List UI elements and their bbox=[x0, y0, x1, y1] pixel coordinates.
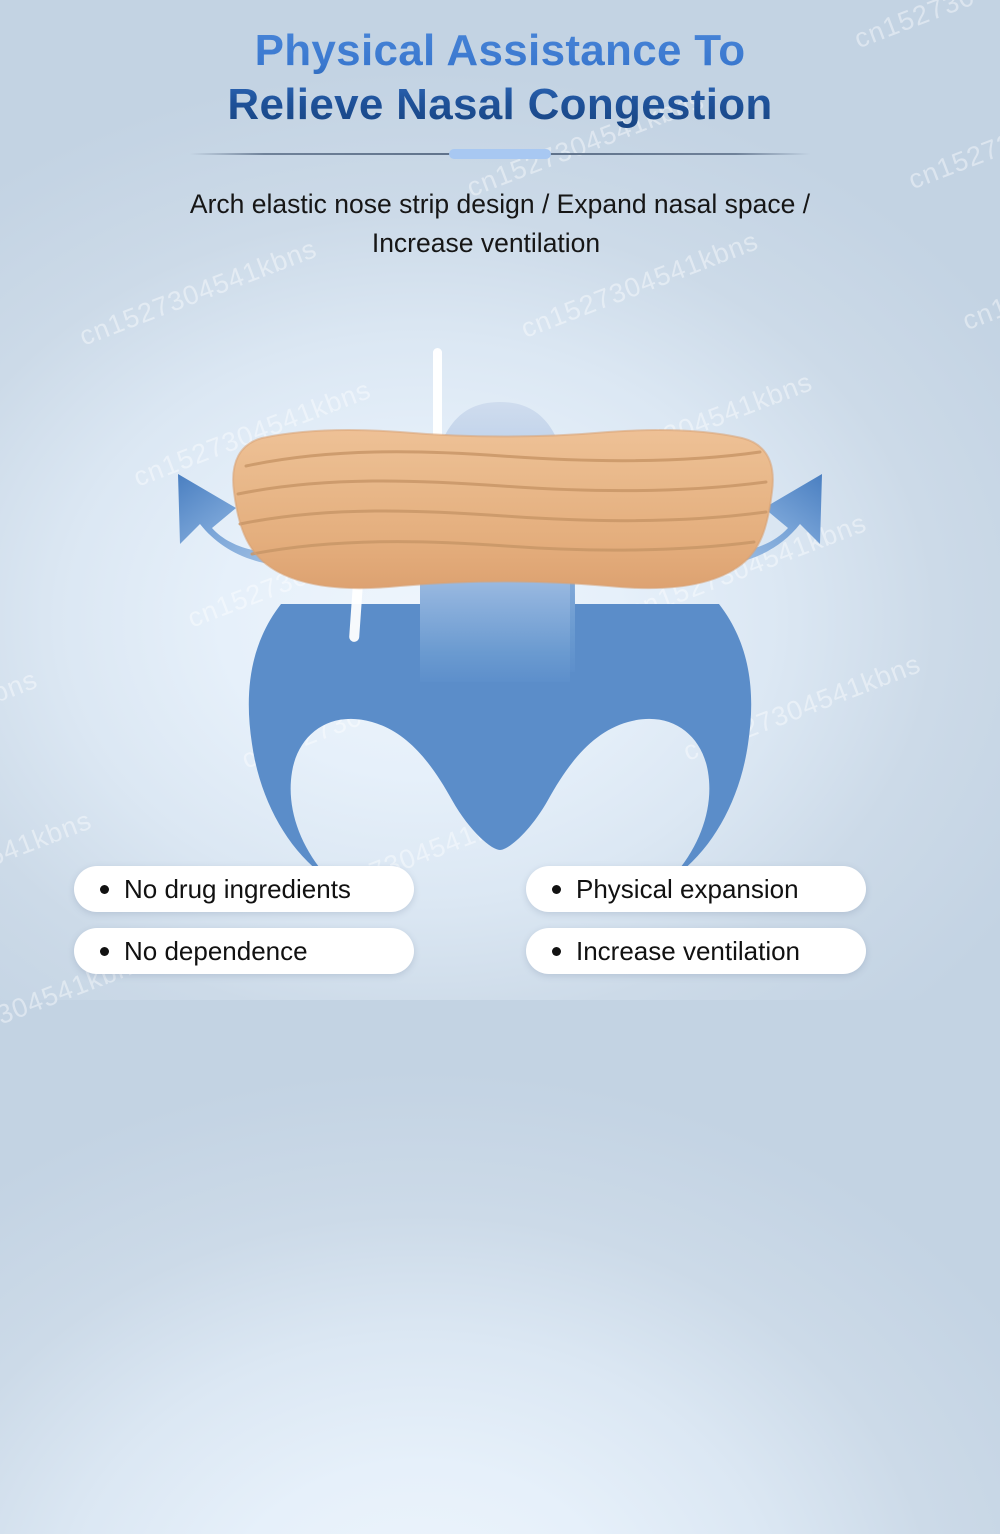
feature-pill-no-drug-ingredients[interactable]: No drug ingredients bbox=[74, 866, 414, 912]
feature-label: No drug ingredients bbox=[124, 876, 351, 902]
feature-pill-no-dependence[interactable]: No dependence bbox=[74, 928, 414, 974]
subtitle: Arch elastic nose strip design / Expand … bbox=[105, 185, 895, 262]
header: Physical Assistance To Relieve Nasal Con… bbox=[0, 0, 1000, 262]
divider bbox=[190, 145, 810, 163]
feature-pill-physical-expansion[interactable]: Physical expansion bbox=[526, 866, 866, 912]
subtitle-line-1: Arch elastic nose strip design / Expand … bbox=[105, 185, 895, 223]
feature-column-right: Physical expansion Increase ventilation bbox=[526, 866, 926, 974]
feature-column-left: No drug ingredients No dependence bbox=[74, 866, 504, 974]
bullet-icon bbox=[552, 947, 561, 956]
divider-accent-bar bbox=[449, 149, 551, 159]
feature-label: Increase ventilation bbox=[576, 938, 800, 964]
feature-label: No dependence bbox=[124, 938, 308, 964]
feature-pill-increase-ventilation[interactable]: Increase ventilation bbox=[526, 928, 866, 974]
product-illustration bbox=[0, 252, 1000, 872]
bullet-icon bbox=[100, 947, 109, 956]
title-line-2: Relieve Nasal Congestion bbox=[0, 78, 1000, 132]
bullet-icon bbox=[100, 885, 109, 894]
title-line-1: Physical Assistance To bbox=[0, 24, 1000, 78]
page-title: Physical Assistance To Relieve Nasal Con… bbox=[0, 24, 1000, 131]
nasal-strip-shape bbox=[233, 430, 773, 588]
feature-list: No drug ingredients No dependence Physic… bbox=[0, 866, 1000, 974]
subtitle-line-2: Increase ventilation bbox=[105, 224, 895, 262]
feature-label: Physical expansion bbox=[576, 876, 799, 902]
bullet-icon bbox=[552, 885, 561, 894]
